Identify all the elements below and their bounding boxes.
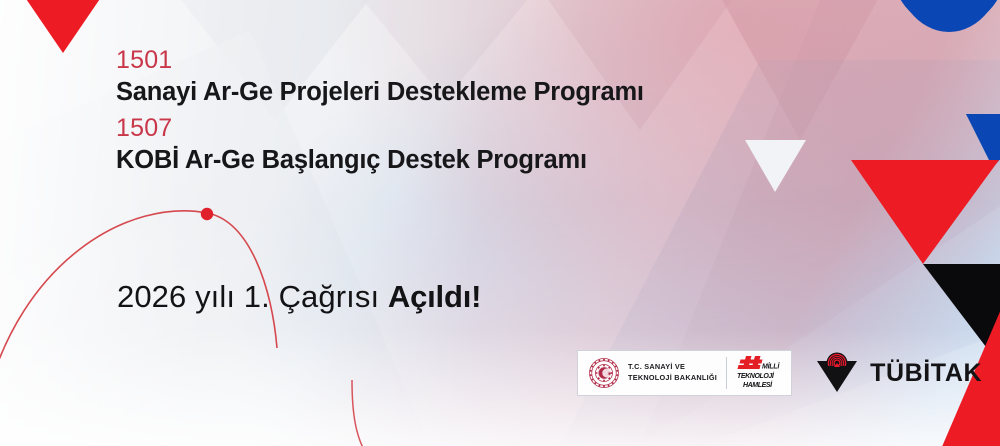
tubitak-wordmark: TÜBİTAK	[870, 361, 982, 386]
campaign-banner: 1501 Sanayi Ar-Ge Projeleri Destekleme P…	[0, 0, 1000, 446]
tubitak-triangle-sun-mark	[814, 352, 860, 394]
program-code-1507: 1507	[116, 114, 644, 144]
callout-strong-part: Açıldı!	[388, 279, 481, 314]
ministry-gear-crescent-emblem	[588, 357, 620, 389]
ministry-logo-line2: TEKNOLOJİ BAKANLIĞI	[628, 373, 717, 384]
program-name-1501: Sanayi Ar-Ge Projeleri Destekleme Progra…	[116, 76, 644, 109]
callout-normal-part: 2026 yılı 1. Çağrısı	[117, 279, 388, 314]
red-triangle-right	[851, 160, 999, 264]
red-arc-bottom	[352, 380, 364, 446]
logo-bar: T.C. SANAYİ VE TEKNOLOJİ BAKANLIĞI MİLLİ…	[577, 350, 982, 396]
program-text-block: 1501 Sanayi Ar-Ge Projeleri Destekleme P…	[116, 46, 644, 180]
hashtag-icon	[738, 356, 763, 369]
svg-text:MİLLİ: MİLLİ	[762, 363, 780, 371]
red-dot-marker	[201, 208, 213, 220]
ministry-logo-line1: T.C. SANAYİ VE	[628, 362, 717, 373]
logo-divider	[726, 357, 727, 389]
program-code-1501: 1501	[116, 46, 644, 76]
program-name-1507: KOBİ Ar-Ge Başlangıç Destek Programı	[116, 144, 644, 177]
svg-text:HAMLESİ: HAMLESİ	[743, 381, 773, 389]
tubitak-logo: TÜBİTAK	[814, 352, 982, 394]
blue-semicircle-top-right-body	[892, 0, 1000, 28]
svg-text:TEKNOLOJİ: TEKNOLOJİ	[737, 372, 775, 380]
ministry-logo-box: T.C. SANAYİ VE TEKNOLOJİ BAKANLIĞI MİLLİ…	[577, 350, 792, 396]
milli-teknoloji-hamlesi-mark: MİLLİ TEKNOLOJİ HAMLESİ	[736, 354, 782, 392]
ministry-logo-text: T.C. SANAYİ VE TEKNOLOJİ BAKANLIĞI	[628, 362, 717, 383]
blue-triangle-right-body	[966, 114, 1000, 165]
callout-text: 2026 yılı 1. Çağrısı Açıldı!	[117, 280, 481, 314]
red-triangle-top-left	[20, 0, 106, 53]
white-triangle-mid	[745, 140, 806, 192]
